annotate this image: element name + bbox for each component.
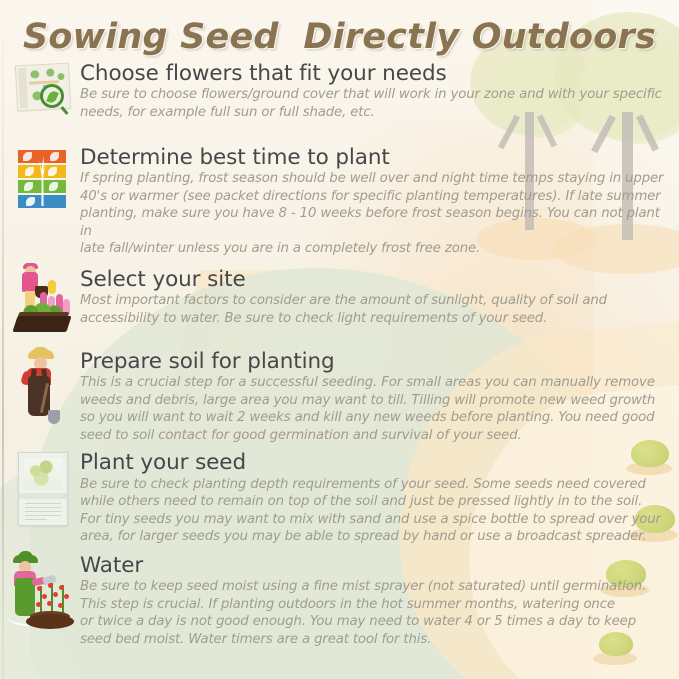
sprig-icon xyxy=(26,197,35,206)
packet-text-line xyxy=(25,515,61,516)
step-item: Plant your seed Be sure to check plantin… xyxy=(0,451,679,545)
sprig-icon xyxy=(49,182,58,191)
step-item: Determine best time to plant If spring p… xyxy=(0,146,679,258)
red-flower-bud xyxy=(53,592,58,597)
flowerbed-mound xyxy=(26,614,74,629)
plan-plot xyxy=(46,68,54,76)
gardener-with-flowerbed-icon xyxy=(10,268,76,342)
seed-packet-icon xyxy=(10,451,76,525)
step-body: Plant your seed Be sure to check plantin… xyxy=(76,451,671,545)
gardener-overalls xyxy=(28,376,50,416)
gardener-with-shovel-icon xyxy=(10,350,76,424)
red-flower-bud xyxy=(42,594,47,599)
plan-plot xyxy=(30,70,39,78)
step-title: Plant your seed xyxy=(80,451,671,474)
step-item: Choose flowers that fit your needs Be su… xyxy=(0,62,679,136)
step-text: Be sure to choose flowers/ground cover t… xyxy=(80,86,671,121)
packet-text-line xyxy=(25,503,61,504)
step-text: Most important factors to consider are t… xyxy=(80,292,671,327)
packet-text-line xyxy=(25,507,61,508)
sprig-icon xyxy=(25,167,34,176)
step-item: Select your site Most important factors … xyxy=(0,268,679,342)
plan-strip xyxy=(18,68,28,108)
sprig-icon xyxy=(23,152,32,161)
red-flower-bud xyxy=(59,585,64,590)
packet-band xyxy=(19,493,67,499)
step-item: Prepare soil for planting This is a cruc… xyxy=(0,350,679,444)
step-body: Determine best time to plant If spring p… xyxy=(76,146,671,258)
step-body: Water Be sure to keep seed moist using a… xyxy=(76,554,671,648)
step-title: Prepare soil for planting xyxy=(80,350,671,373)
infographic-poster: Sowing Seed Directly Outdoors xyxy=(0,0,679,679)
step-title: Determine best time to plant xyxy=(80,146,671,169)
sprig-icon xyxy=(48,167,57,176)
season-color-bars-icon xyxy=(10,146,76,220)
steps-list: Choose flowers that fit your needs Be su… xyxy=(0,62,679,648)
magnifier-leaf xyxy=(46,90,59,104)
magnifier-icon xyxy=(40,84,64,108)
step-body: Select your site Most important factors … xyxy=(76,268,671,327)
red-flower-bud xyxy=(37,586,42,591)
step-text: Be sure to check planting depth requirem… xyxy=(80,476,671,546)
seed-packet xyxy=(18,452,68,526)
red-flower-bud xyxy=(47,601,52,606)
step-title: Water xyxy=(80,554,671,577)
sprig-icon xyxy=(24,182,33,191)
red-flower-bud xyxy=(58,603,63,608)
step-text: This is a crucial step for a successful … xyxy=(80,374,671,444)
step-body: Prepare soil for planting This is a cruc… xyxy=(76,350,671,444)
plan-plot xyxy=(57,73,64,80)
flowerbed-box xyxy=(12,316,71,332)
shovel-blade xyxy=(48,410,60,424)
red-flower-bud xyxy=(48,583,53,588)
sprig-icon xyxy=(50,152,59,161)
page-title: Sowing Seed Directly Outdoors xyxy=(0,17,679,57)
step-title: Choose flowers that fit your needs xyxy=(80,62,671,85)
step-title: Select your site xyxy=(80,268,671,291)
yellow-flower xyxy=(48,280,56,294)
step-text: If spring planting, frost season should … xyxy=(80,170,671,258)
red-flower-bud xyxy=(36,602,41,607)
step-body: Choose flowers that fit your needs Be su… xyxy=(76,62,671,121)
packet-plant-photo xyxy=(24,458,62,490)
step-item: Water Be sure to keep seed moist using a… xyxy=(0,554,679,648)
red-flower-bud xyxy=(64,594,69,599)
step-text: Be sure to keep seed moist using a fine … xyxy=(80,578,671,648)
packet-text-line xyxy=(25,511,61,512)
garden-plan-map-icon xyxy=(10,62,76,136)
season-bar-spring xyxy=(18,150,66,163)
gardener-watering-icon xyxy=(10,554,76,628)
season-bars xyxy=(18,150,66,210)
packet-text-line xyxy=(25,519,47,520)
